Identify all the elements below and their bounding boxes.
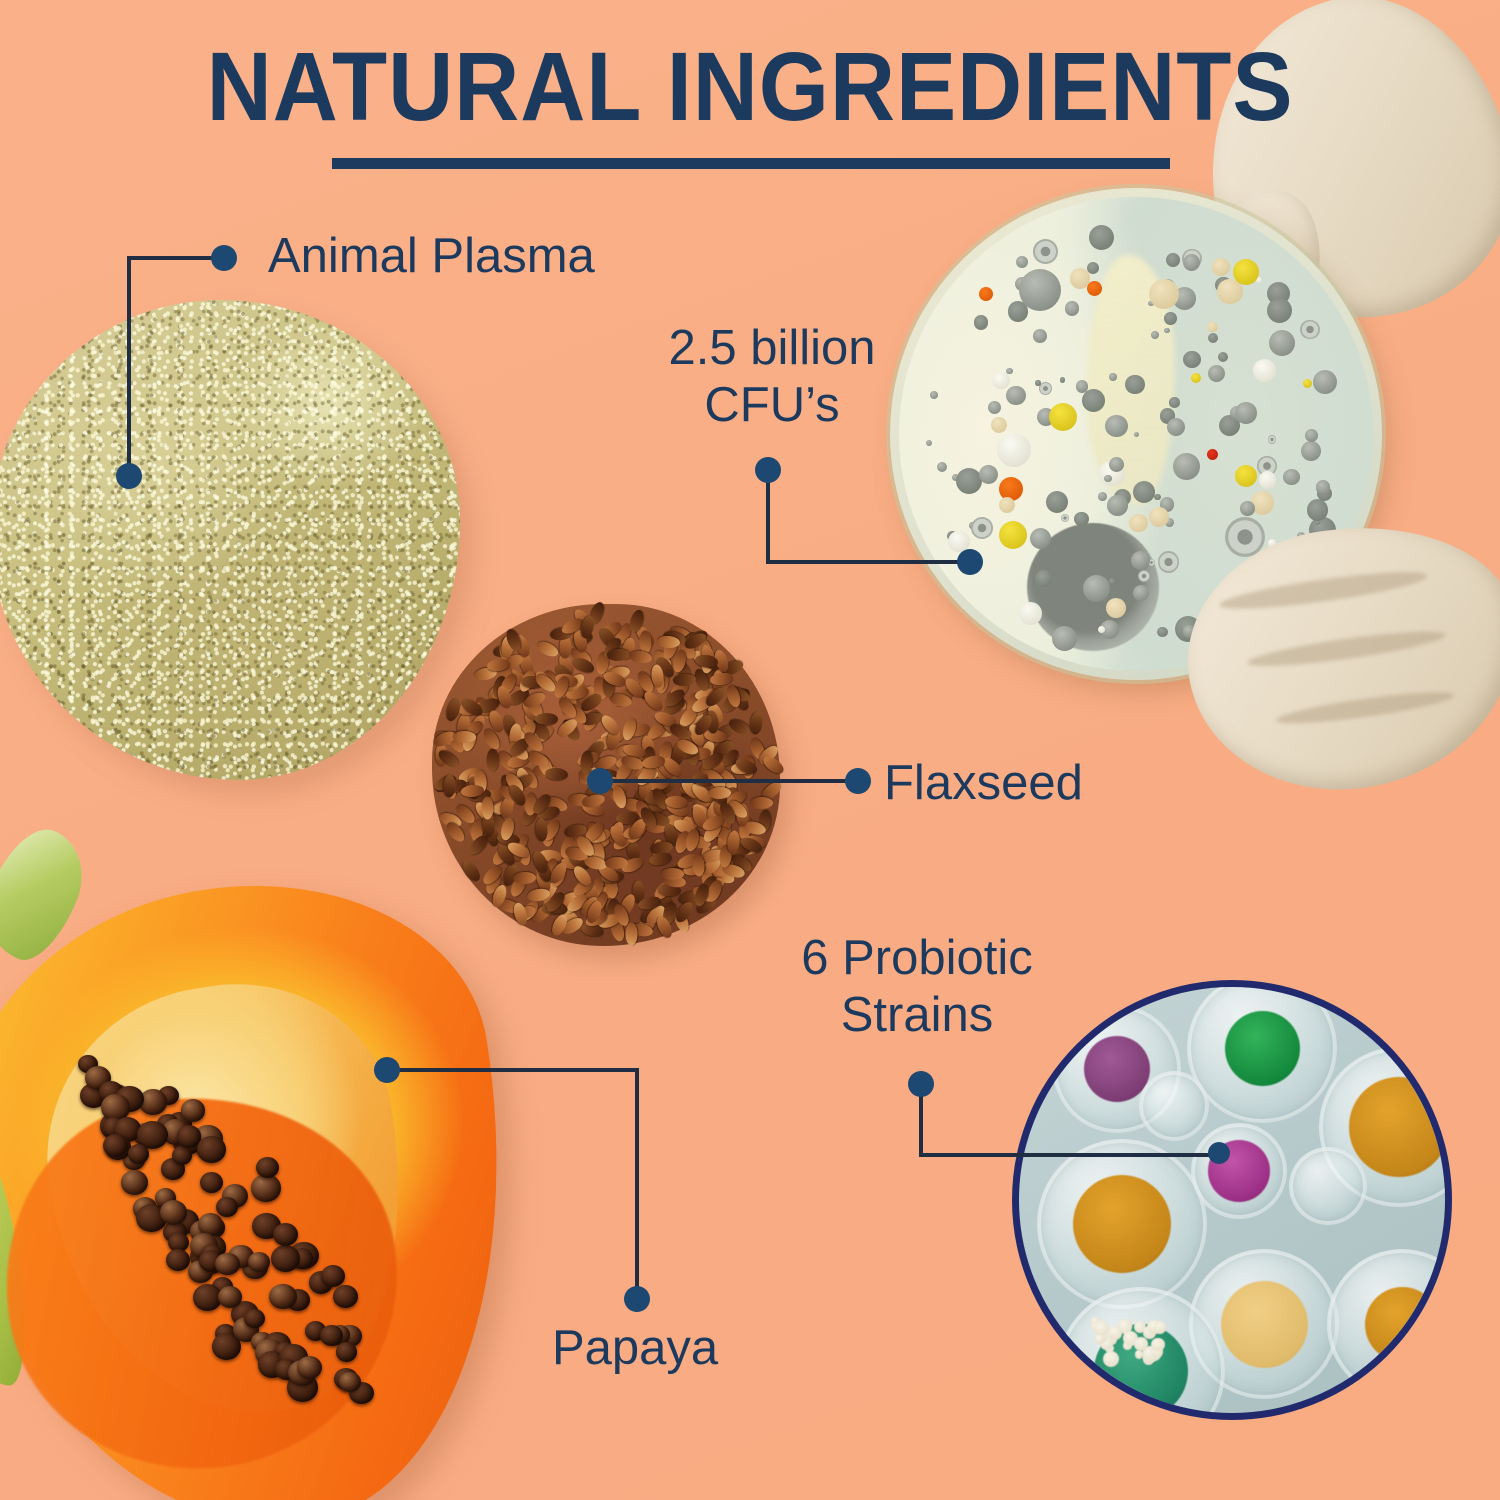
label-flaxseed: Flaxseed (884, 755, 1083, 812)
flaxseed-seed (749, 711, 763, 735)
leader-line-cfu-vertical (766, 480, 770, 564)
bacterial-colony (1087, 281, 1102, 296)
bacterial-colony (1033, 239, 1058, 264)
flaxseed-seed (626, 922, 638, 945)
bacterial-colony (1283, 469, 1299, 485)
bacterial-colony (1207, 449, 1218, 460)
bacterial-colony (1035, 380, 1040, 385)
bacterial-colony (1049, 403, 1077, 431)
title-underline (332, 158, 1170, 169)
bacterial-colony (1208, 365, 1226, 383)
leader-dot-animal-plasma-target (116, 463, 142, 489)
probiotic-colony (1095, 1334, 1105, 1344)
papaya-seed (269, 1284, 297, 1309)
label-probiotic-line-1: 6 Probiotic (772, 930, 1062, 987)
plate-well (1289, 1147, 1367, 1225)
bacterial-colony (979, 287, 993, 301)
bacterial-colony (1240, 501, 1255, 516)
bacterial-colony (1218, 352, 1228, 362)
flaxseed-seed (453, 731, 476, 743)
papaya-seed (271, 1245, 300, 1272)
probiotic-colony (1365, 1287, 1440, 1362)
bacterial-colony (1030, 528, 1051, 549)
bacterial-colony (1313, 370, 1337, 394)
label-cfu-line-2: CFU’s (637, 377, 907, 434)
bacterial-colony (1164, 312, 1177, 325)
bacterial-colony (999, 521, 1027, 549)
bacterial-colony (1074, 512, 1089, 527)
leader-dot-probiotic-target (1208, 1142, 1230, 1164)
bacterial-colony (1076, 380, 1089, 393)
bacterial-colony (1166, 253, 1180, 267)
page-title: NATURAL INGREDIENTS (53, 38, 1448, 135)
bacterial-colony (1125, 375, 1145, 395)
papaya-seed (166, 1249, 190, 1271)
papaya-seeds-layer (0, 828, 530, 1500)
bacterial-colony (1109, 457, 1124, 472)
papaya-seed (181, 1099, 205, 1121)
leader-dot-papaya-target (374, 1057, 400, 1083)
probiotic-colony (1154, 1321, 1166, 1333)
glove-crease (1275, 686, 1456, 729)
bacterial-colony (1019, 269, 1061, 311)
papaya-seed (215, 1253, 239, 1275)
petri-dish-image (868, 148, 1500, 768)
bacterial-colony (1016, 256, 1028, 268)
papaya-seed (321, 1265, 345, 1287)
label-cfu-line-1: 2.5 billion (637, 320, 907, 377)
bacterial-colony (1233, 259, 1259, 285)
flaxseed-seed (661, 868, 684, 880)
bacterial-colony (1083, 575, 1110, 602)
papaya-half-image (0, 828, 530, 1500)
bacterial-colony (1134, 432, 1139, 437)
bacterial-colony (1169, 397, 1180, 408)
probiotic-colony (1108, 1326, 1121, 1339)
leader-dot-cfu-target (957, 549, 983, 575)
bacterial-colony (999, 497, 1015, 513)
papaya-seed (197, 1136, 227, 1163)
probiotic-colony (1135, 1350, 1143, 1358)
bacterial-colony (979, 465, 999, 485)
label-probiotic-line-2: Strains (772, 987, 1062, 1044)
leader-dot-animal-plasma-label (211, 245, 237, 271)
bacterial-colony (1019, 602, 1042, 625)
bacterial-colony (1253, 359, 1276, 382)
probiotic-colony (1225, 1011, 1300, 1086)
bacterial-colony (1183, 254, 1200, 271)
powder-grain-texture (0, 300, 460, 780)
bacterial-colony (1268, 435, 1277, 444)
leader-line-papaya-vertical (635, 1068, 639, 1298)
label-cfu-count: 2.5 billion CFU’s (637, 320, 907, 434)
bacterial-colony (937, 462, 947, 472)
papaya-seed (128, 1144, 150, 1164)
probiotic-colony (1073, 1175, 1172, 1274)
bacterial-colony (1151, 331, 1159, 339)
bacterial-colony (997, 433, 1031, 467)
bacterial-colony (1046, 491, 1069, 514)
leader-line-cfu-horizontal (766, 560, 972, 564)
bacterial-colony (926, 440, 932, 446)
bacterial-colony (991, 417, 1007, 433)
bacterial-colony (1033, 329, 1046, 342)
flaxseed-seed (544, 767, 568, 781)
bacterial-colony (992, 372, 1009, 389)
papaya-seed (256, 1157, 279, 1178)
probiotic-colony (1151, 1338, 1164, 1351)
papaya-seed (172, 1146, 192, 1165)
bacterial-colony (1267, 298, 1292, 323)
bacterial-colony (1098, 492, 1107, 501)
infographic-canvas: NATURAL INGREDIENTS Animal Plasma 2.5 bi… (0, 0, 1500, 1500)
bacterial-colony (1300, 320, 1319, 339)
papaya-seed (297, 1356, 322, 1379)
probiotic-colony (1349, 1077, 1448, 1176)
flaxseed-seed (535, 713, 558, 725)
bacterial-colony (1307, 499, 1329, 521)
bacterial-colony (1191, 373, 1201, 383)
bacterial-colony (1235, 402, 1256, 423)
bacterial-colony (1183, 351, 1201, 369)
bacterial-colony (1235, 465, 1257, 487)
flaxseed-seed (534, 638, 560, 659)
bacterial-colony (1107, 495, 1128, 516)
bacterial-colony (1212, 258, 1230, 276)
probiotic-colony (1134, 1337, 1148, 1351)
label-probiotic-strains: 6 Probiotic Strains (772, 930, 1062, 1044)
papaya-seed (339, 1372, 360, 1392)
bacterial-colony (1303, 379, 1312, 388)
leader-dot-papaya-label (624, 1286, 650, 1312)
papaya-seed (200, 1172, 223, 1193)
glove-crease (1218, 565, 1429, 616)
bacterial-colony (1158, 551, 1179, 572)
flaxseed-seed (570, 654, 596, 675)
papaya-seed (244, 1309, 265, 1328)
bacterial-colony (1006, 368, 1012, 374)
glove-crease (1246, 625, 1447, 673)
label-papaya: Papaya (552, 1320, 718, 1377)
bacterial-colony (1173, 453, 1200, 480)
bacterial-colony (956, 468, 982, 494)
bacterial-colony (1301, 441, 1321, 461)
bacterial-colony (1167, 418, 1185, 436)
bacterial-colony (971, 517, 994, 540)
flaxseed-seed (673, 673, 697, 687)
papaya-seed (121, 1170, 148, 1195)
flaxseed-seed (750, 797, 773, 809)
bacterial-colony (1305, 429, 1318, 442)
leader-line-probiotic-vertical (919, 1094, 923, 1157)
bacterial-colony (1052, 626, 1077, 651)
leader-line-papaya-horizontal (385, 1068, 639, 1072)
bacterial-colony (1157, 627, 1168, 638)
bacterial-colony (1109, 578, 1115, 584)
leader-line-probiotic-horizontal (919, 1153, 1221, 1157)
leader-line-flaxseed (598, 779, 856, 783)
flaxseed-seed (534, 818, 548, 842)
bacterial-colony (930, 391, 938, 399)
bacterial-colony (1087, 262, 1099, 274)
flaxseed-seed (487, 749, 499, 772)
bacterial-colony (1060, 377, 1066, 383)
bacterial-colony (1149, 279, 1179, 309)
leader-dot-probiotic-label (908, 1071, 934, 1097)
bacterial-colony (1109, 373, 1117, 381)
probiotic-colony (1084, 1036, 1151, 1103)
papaya-seed (160, 1200, 187, 1225)
plate-well (1139, 1071, 1209, 1141)
bacterial-colony (1105, 415, 1127, 437)
bacterial-colony (1208, 333, 1218, 343)
papaya-seed (336, 1342, 357, 1362)
bacterial-colony (1269, 330, 1295, 356)
bacterial-colony (1207, 322, 1218, 333)
papaya-seed (251, 1174, 281, 1202)
bacterial-colony (1316, 480, 1331, 495)
papaya-seed (216, 1197, 238, 1217)
leader-dot-cfu-label (755, 457, 781, 483)
bacterial-colony (1129, 514, 1148, 533)
papaya-seed (273, 1223, 298, 1246)
leader-dot-flaxseed-label (845, 768, 871, 794)
label-animal-plasma: Animal Plasma (268, 228, 595, 285)
bacterial-colony (1061, 514, 1070, 523)
leader-line-animal-plasma-vertical (127, 258, 131, 476)
bacterial-colony (1065, 301, 1080, 316)
animal-plasma-powder-image (0, 300, 460, 780)
well-plate-image (1012, 980, 1452, 1420)
bacterial-colony (1006, 386, 1026, 406)
bacterial-colony (1259, 471, 1276, 488)
bacterial-colony (1133, 481, 1155, 503)
leader-dot-flaxseed-target (587, 768, 613, 794)
bacterial-colony (974, 315, 989, 330)
bacterial-colony (1104, 475, 1112, 483)
well-plate-circle (1012, 980, 1452, 1420)
bacterial-colony (1089, 225, 1114, 250)
bacterial-colony (1133, 585, 1149, 601)
bacterial-colony (1035, 570, 1052, 587)
bacterial-colony (1131, 551, 1150, 570)
flaxseed-seed (760, 754, 786, 777)
probiotic-colony (1221, 1281, 1308, 1368)
bacterial-colony (1164, 328, 1170, 334)
papaya-seed (333, 1285, 358, 1308)
bacterial-colony (988, 401, 1002, 415)
